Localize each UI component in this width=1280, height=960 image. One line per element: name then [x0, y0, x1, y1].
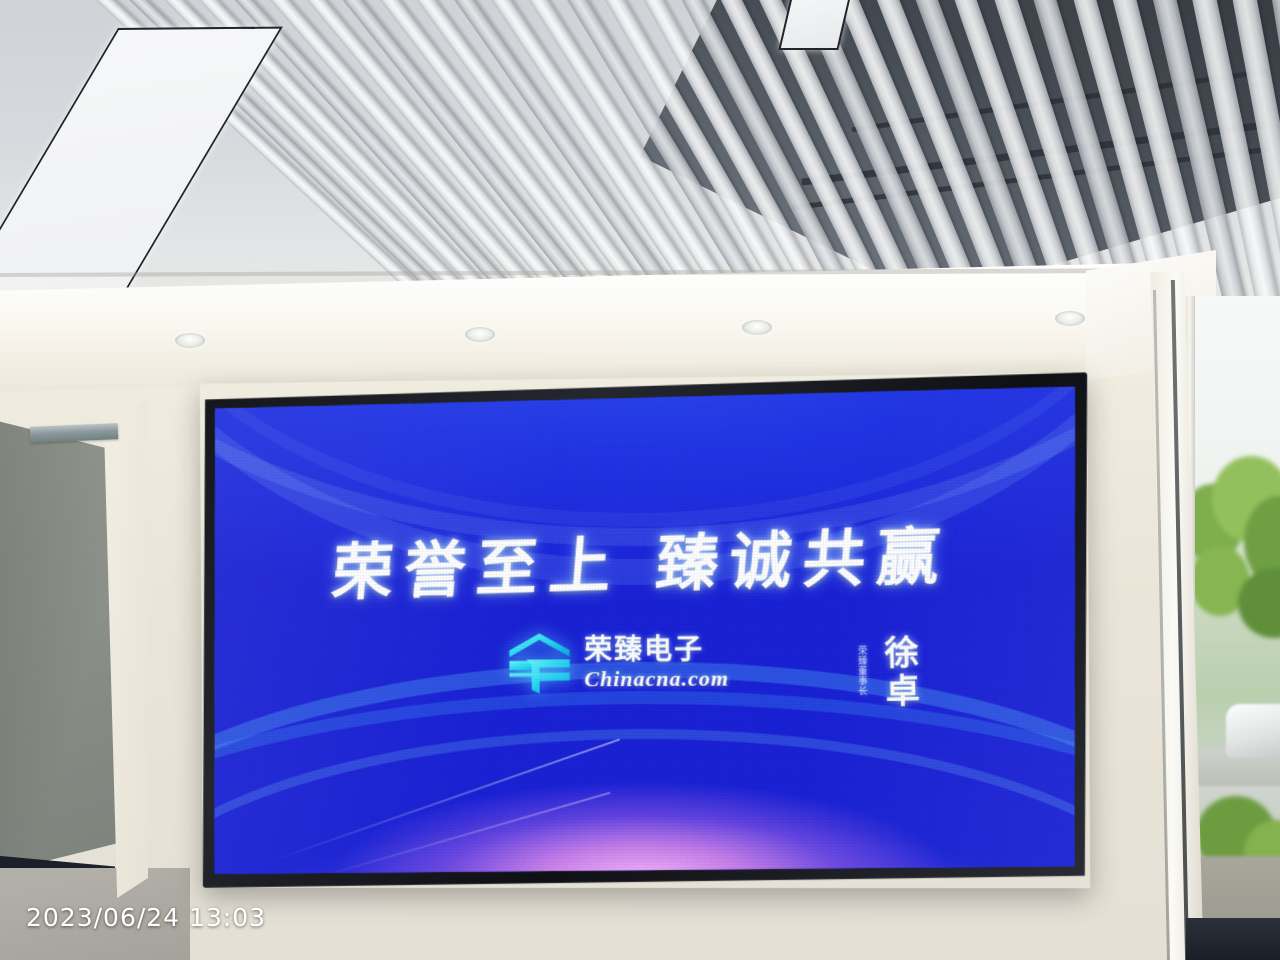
parked-car: [1226, 704, 1280, 758]
alcove-shading: [0, 405, 122, 875]
downlight-icon: [1055, 311, 1085, 326]
led-display[interactable]: 荣誉至上臻诚共赢 荣臻: [200, 372, 1091, 888]
downlight-icon: [465, 327, 495, 342]
downlight-icon: [175, 333, 205, 348]
window-sill: [1186, 918, 1280, 960]
display-screen[interactable]: 荣誉至上臻诚共赢 荣臻: [212, 387, 1078, 874]
downlight-icon: [742, 320, 772, 335]
screen-reflection: [212, 387, 1078, 874]
photo-timestamp: 2023/06/24 13:03: [26, 903, 266, 932]
photo-scene: 荣誉至上臻诚共赢 荣臻: [0, 0, 1280, 960]
